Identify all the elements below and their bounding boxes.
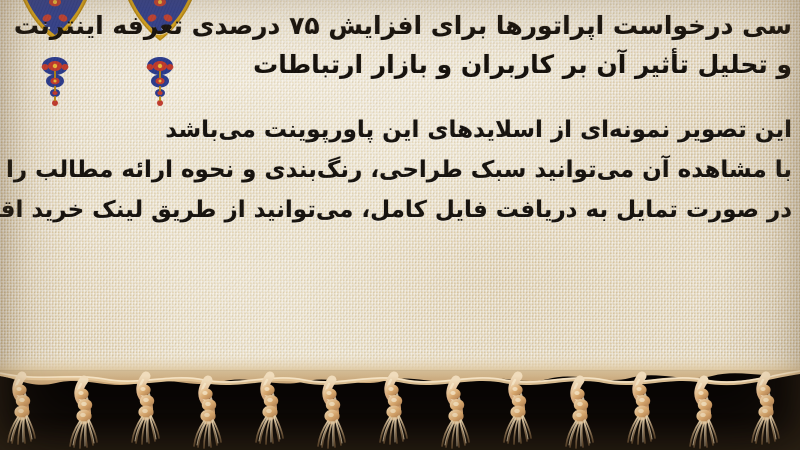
body-line-2: با مشاهده آن می‌توانید سبک طراحی، رنگ‌بن…: [8, 150, 792, 190]
body-line-1: این تصویر نمونه‌ای از اسلایدهای این پاور…: [8, 110, 792, 150]
title-line-1: سی درخواست اپراتورها برای افزایش ۷۵ درصد…: [8, 6, 792, 45]
slide-canvas: سی درخواست اپراتورها برای افزایش ۷۵ درصد…: [0, 0, 800, 450]
title-line-2: و تحلیل تأثیر آن بر کاربران و بازار ارتب…: [8, 45, 792, 84]
carpet-fringe-ornament: [0, 354, 800, 450]
body-line-3: در صورت تمایل به دریافت فایل کامل، می‌تو…: [8, 190, 792, 230]
title-block: سی درخواست اپراتورها برای افزایش ۷۵ درصد…: [8, 6, 792, 84]
body-block: این تصویر نمونه‌ای از اسلایدهای این پاور…: [8, 110, 792, 230]
